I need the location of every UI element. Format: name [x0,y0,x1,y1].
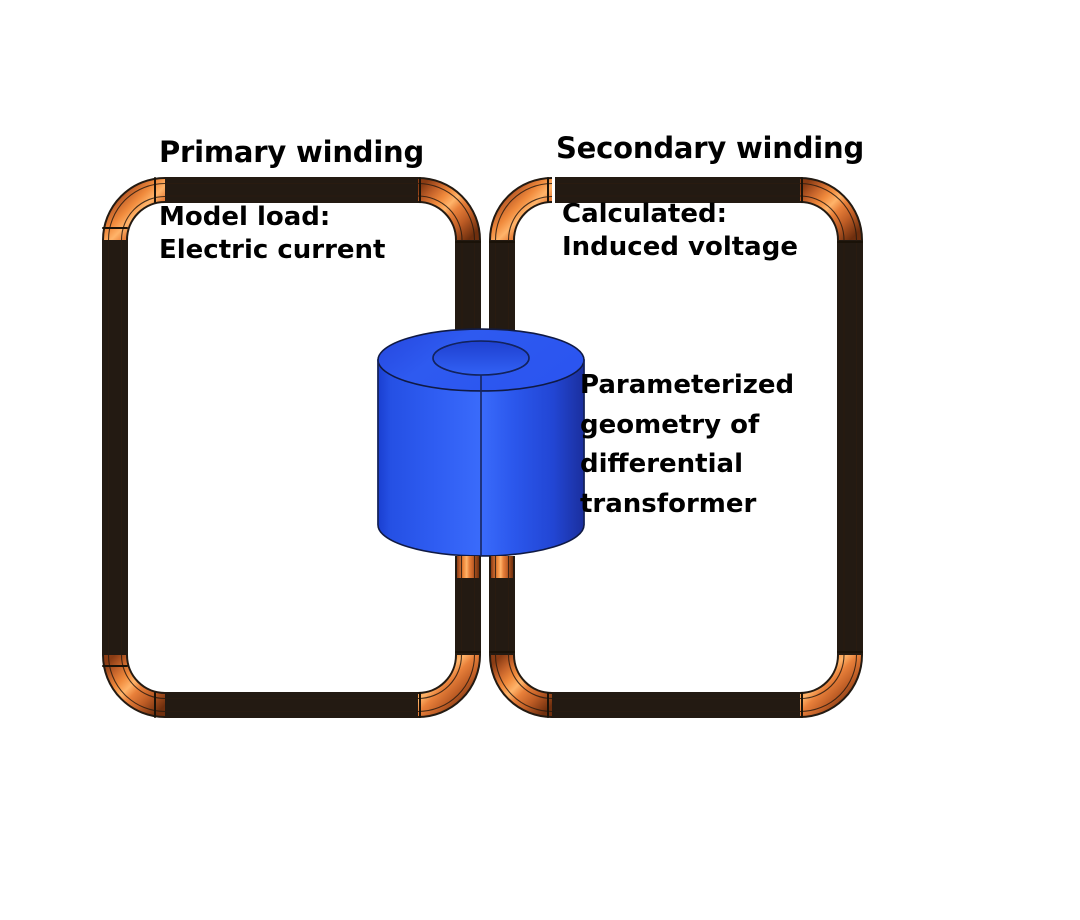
annotation-secondary-calculated: Calculated: Induced voltage [562,198,798,265]
annotation-primary-model-load: Model load: Electric current [159,201,385,268]
label-secondary-winding: Secondary winding [556,130,864,167]
label-primary-winding: Primary winding [159,134,424,171]
wires-below-core [455,556,515,578]
annotation-core-geometry: Parameterized geometry of differential t… [580,366,794,524]
toroid-core [378,329,584,556]
transformer-diagram: Primary winding Secondary winding Model … [0,0,1080,920]
